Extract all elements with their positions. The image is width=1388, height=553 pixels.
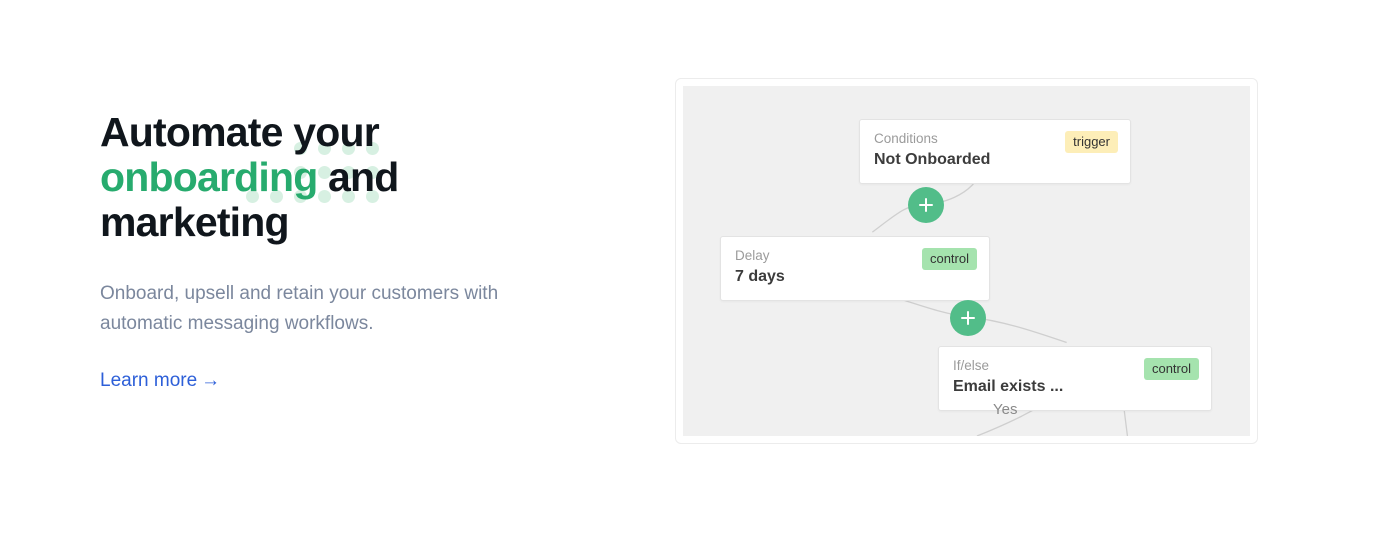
add-step-button-1[interactable]	[908, 187, 944, 223]
headline-line-1: Automate your	[100, 109, 379, 155]
workflow-node-delay[interactable]: Delay 7 days control	[720, 236, 990, 301]
workflow-preview-card: Conditions Not Onboarded trigger Delay 7…	[675, 78, 1258, 444]
add-step-button-2[interactable]	[950, 300, 986, 336]
headline-accent-word: onboarding	[100, 154, 317, 200]
edge-label-yes: Yes	[993, 401, 1017, 418]
headline-line-2-tail: and	[317, 154, 398, 200]
page-title: Automate your onboarding and marketing	[100, 110, 620, 245]
hero-subtitle: Onboard, upsell and retain your customer…	[100, 279, 520, 339]
learn-more-label: Learn more	[100, 370, 197, 391]
status-badge-control: control	[922, 248, 977, 270]
status-badge-trigger: trigger	[1065, 131, 1118, 153]
arrow-right-icon: →	[201, 370, 220, 391]
learn-more-link[interactable]: Learn more→	[100, 370, 220, 392]
hero-text-column: Automate your onboarding and marketing O…	[100, 110, 620, 392]
status-badge-control: control	[1144, 358, 1199, 380]
headline-line-3: marketing	[100, 199, 289, 245]
workflow-node-ifelse[interactable]: If/else Email exists ... control	[938, 346, 1212, 411]
workflow-node-conditions[interactable]: Conditions Not Onboarded trigger	[859, 119, 1131, 184]
workflow-canvas[interactable]: Conditions Not Onboarded trigger Delay 7…	[683, 86, 1250, 436]
